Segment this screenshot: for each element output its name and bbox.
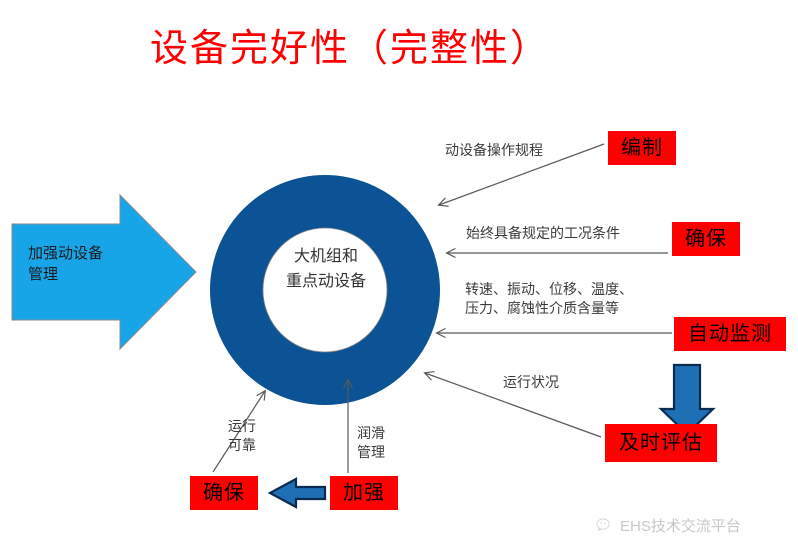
action-box-zidong-jiance: 自动监测 xyxy=(674,317,786,351)
wechat-icon-glyph xyxy=(596,517,613,534)
caption-lubrication-management-line1: 润滑 xyxy=(357,425,393,444)
caption-operating-procedure: 动设备操作规程 xyxy=(445,142,543,161)
slide-canvas: 设备完好性（完整性） 加强动设备 管理 大机组和 重点动设备 动设备操作规程 始… xyxy=(0,0,798,547)
caption-reliable-operation-line2: 可靠 xyxy=(228,437,272,456)
action-box-quebao-top: 确保 xyxy=(672,222,740,256)
footer-watermark: EHS技术交流平台 xyxy=(596,515,741,536)
left-block-arrow xyxy=(270,479,325,507)
action-box-jishi-pinggu: 及时评估 xyxy=(605,424,717,462)
caption-monitored-parameters-line1: 转速、振动、位移、温度、 xyxy=(465,281,680,300)
caption-working-conditions: 始终具备规定的工况条件 xyxy=(466,225,620,244)
donut-center-line2: 重点动设备 xyxy=(256,269,396,294)
wechat-icon xyxy=(596,517,613,534)
action-box-bianzhi: 编制 xyxy=(608,131,676,165)
caption-reliable-operation-line1: 运行 xyxy=(228,418,272,437)
footer-watermark-text: EHS技术交流平台 xyxy=(620,515,741,536)
action-box-quebao-bottom: 确保 xyxy=(190,476,258,510)
caption-reliable-operation: 运行 可靠 xyxy=(228,418,272,456)
caption-monitored-parameters: 转速、振动、位移、温度、 压力、腐蚀性介质含量等 xyxy=(465,281,680,319)
intake-arrow-label: 加强动设备 管理 xyxy=(28,244,158,286)
caption-lubrication-management: 润滑 管理 xyxy=(357,425,393,463)
caption-lubrication-management-line2: 管理 xyxy=(357,444,393,463)
donut-center-line1: 大机组和 xyxy=(256,244,396,269)
donut-center-label: 大机组和 重点动设备 xyxy=(256,244,396,294)
intake-arrow-label-line1: 加强动设备 xyxy=(28,244,158,265)
intake-arrow-label-line2: 管理 xyxy=(28,265,158,286)
action-box-jiaqiang: 加强 xyxy=(330,476,398,510)
caption-operating-status: 运行状况 xyxy=(503,374,559,393)
caption-monitored-parameters-line2: 压力、腐蚀性介质含量等 xyxy=(465,300,680,319)
page-title: 设备完好性（完整性） xyxy=(150,17,570,72)
